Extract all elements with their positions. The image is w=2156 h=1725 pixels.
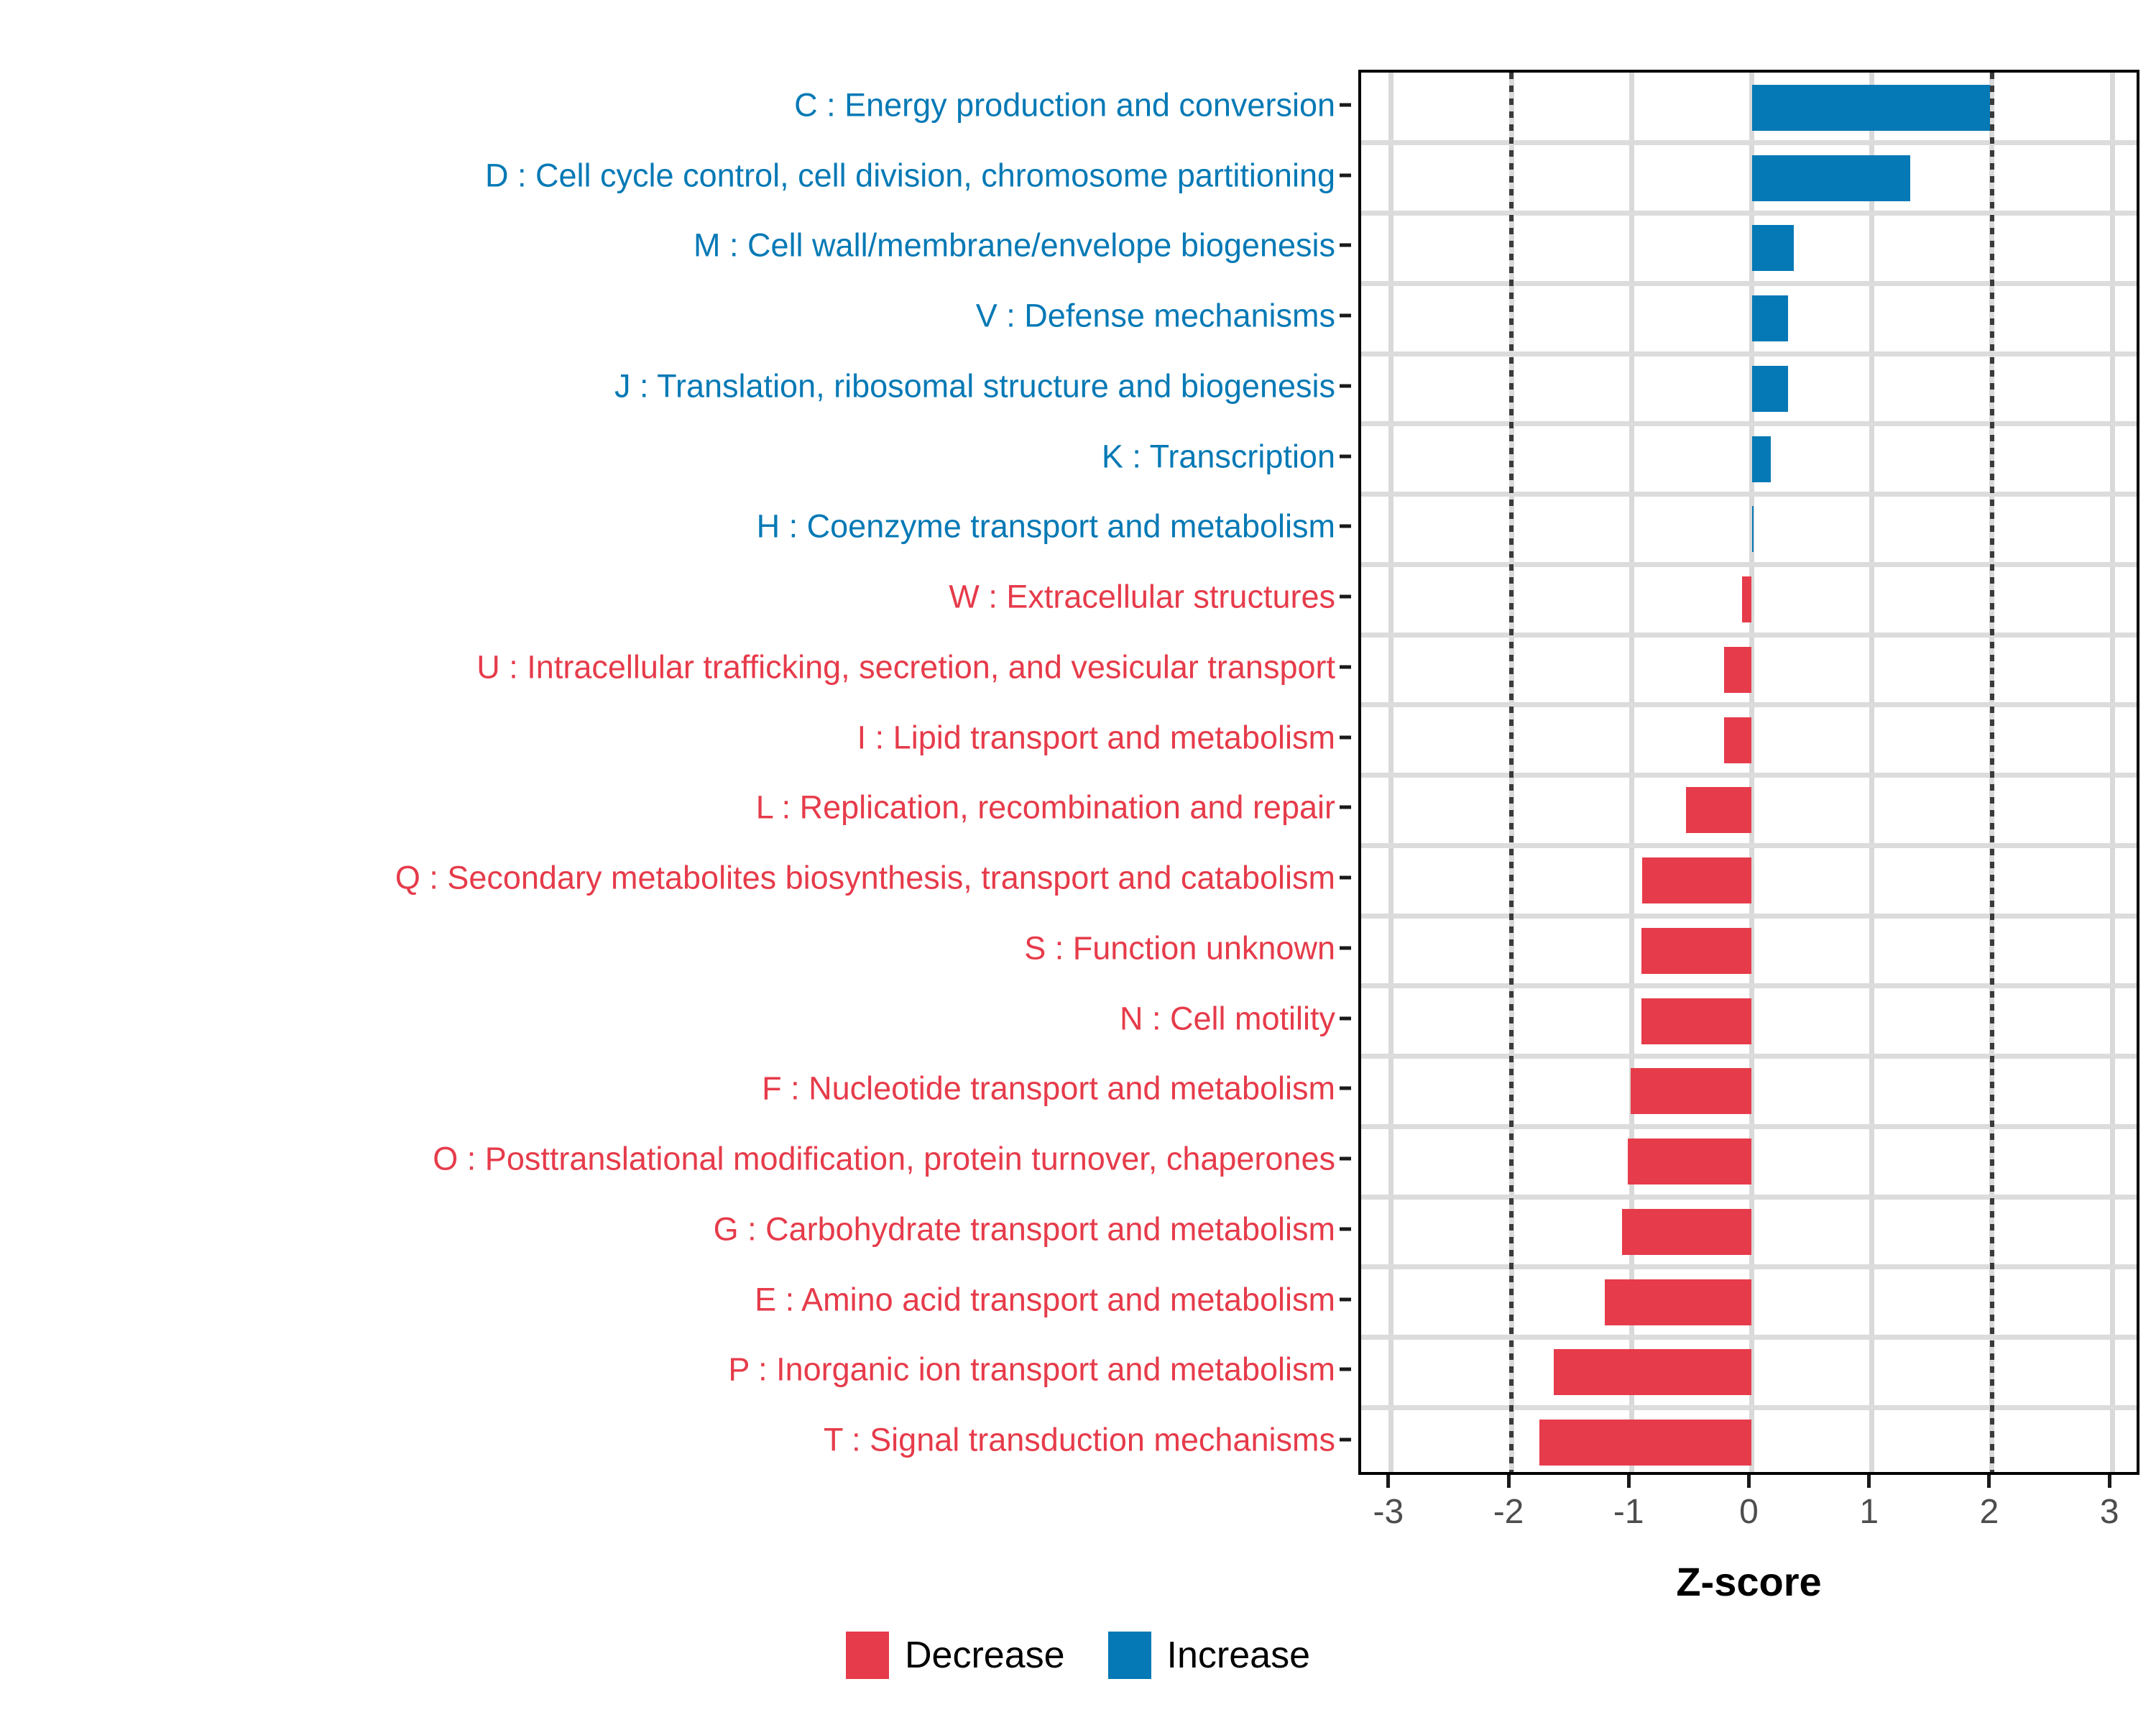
x-tick-label: 1 — [1859, 1492, 1879, 1532]
gridline-horizontal — [1361, 914, 2137, 919]
bar — [1752, 225, 1795, 271]
bar — [1631, 1068, 1752, 1114]
x-tick-mark — [1386, 1475, 1390, 1488]
gridline-horizontal — [1361, 281, 2137, 286]
gridline-horizontal — [1361, 773, 2137, 778]
bar — [1752, 155, 1911, 201]
category-label: O : Posttranslational modification, prot… — [433, 1142, 1335, 1176]
gridline-horizontal — [1361, 983, 2137, 988]
gridline-horizontal — [1361, 1264, 2137, 1269]
gridline-horizontal — [1361, 702, 2137, 707]
category-label: S : Function unknown — [1024, 931, 1335, 965]
x-tick-mark — [2108, 1475, 2111, 1488]
bar — [1724, 647, 1751, 693]
x-tick-label: -1 — [1613, 1492, 1644, 1532]
x-axis: -3-2-10123 — [1358, 1475, 2139, 1561]
threshold-line — [1509, 73, 1514, 1472]
y-tick-mark — [1340, 1368, 1351, 1371]
y-tick-mark — [1340, 1157, 1351, 1161]
legend-swatch — [846, 1632, 889, 1679]
y-tick-mark — [1340, 244, 1351, 247]
x-tick-label: -3 — [1373, 1492, 1404, 1532]
bar — [1752, 506, 1754, 552]
bar — [1641, 998, 1752, 1044]
category-label: V : Defense mechanisms — [976, 299, 1335, 333]
gridline-horizontal — [1361, 1335, 2137, 1340]
legend: DecreaseIncrease — [0, 1632, 2156, 1679]
y-tick-mark — [1340, 1016, 1351, 1020]
x-tick-label: 0 — [1739, 1492, 1759, 1532]
y-tick-mark — [1340, 454, 1351, 458]
bar — [1752, 85, 1990, 131]
y-tick-mark — [1340, 1438, 1351, 1442]
plot-panel — [1358, 70, 2139, 1475]
category-label: G : Carbohydrate transport and metabolis… — [714, 1212, 1335, 1246]
bar — [1752, 366, 1788, 412]
category-label: N : Cell motility — [1120, 1001, 1335, 1035]
category-label: U : Intracellular trafficking, secretion… — [476, 650, 1335, 684]
gridline-horizontal — [1361, 562, 2137, 567]
category-label: D : Cell cycle control, cell division, c… — [485, 158, 1335, 192]
y-tick-mark — [1340, 665, 1351, 668]
bar — [1686, 787, 1752, 833]
gridline-horizontal — [1361, 211, 2137, 216]
legend-item[interactable]: Decrease — [846, 1632, 1065, 1679]
category-label: C : Energy production and conversion — [794, 88, 1335, 121]
bar — [1641, 928, 1752, 974]
x-tick-label: -2 — [1493, 1492, 1524, 1532]
y-tick-mark — [1340, 384, 1351, 387]
gridline-horizontal — [1361, 1054, 2137, 1059]
x-tick-mark — [1507, 1475, 1511, 1488]
legend-label: Decrease — [905, 1634, 1065, 1677]
y-tick-mark — [1340, 806, 1351, 809]
category-label: Q : Secondary metabolites biosynthesis, … — [395, 861, 1335, 895]
y-tick-mark — [1340, 103, 1351, 106]
y-tick-mark — [1340, 595, 1351, 599]
bar — [1539, 1420, 1752, 1466]
bar — [1724, 717, 1751, 763]
gridline-horizontal — [1361, 351, 2137, 356]
category-label: F : Nucleotide transport and metabolism — [762, 1072, 1335, 1105]
cog-zscore-barchart: C : Energy production and conversionD : … — [0, 0, 2156, 1725]
bar — [1628, 1138, 1751, 1184]
category-label: E : Amino acid transport and metabolism — [755, 1282, 1335, 1316]
legend-swatch — [1108, 1632, 1151, 1679]
x-tick-mark — [1747, 1475, 1751, 1488]
y-tick-mark — [1340, 173, 1351, 177]
gridline-horizontal — [1361, 1195, 2137, 1200]
x-tick-mark — [1627, 1475, 1631, 1488]
bar — [1642, 857, 1751, 903]
gridline-horizontal — [1361, 1124, 2137, 1129]
category-label: L : Replication, recombination and repai… — [756, 791, 1335, 824]
category-label: M : Cell wall/membrane/envelope biogenes… — [694, 229, 1335, 262]
y-tick-mark — [1340, 876, 1351, 880]
category-label: J : Translation, ribosomal structure and… — [614, 369, 1335, 402]
bar — [1622, 1209, 1752, 1255]
legend-label: Increase — [1167, 1634, 1310, 1677]
x-axis-title: Z-score — [1358, 1558, 2139, 1605]
category-axis: C : Energy production and conversionD : … — [0, 70, 1351, 1475]
category-label: I : Lipid transport and metabolism — [857, 720, 1335, 754]
legend-item[interactable]: Increase — [1108, 1632, 1310, 1679]
y-tick-mark — [1340, 1297, 1351, 1301]
gridline-horizontal — [1361, 843, 2137, 848]
x-tick-label: 2 — [1980, 1492, 1999, 1532]
gridline-horizontal — [1361, 492, 2137, 497]
y-tick-mark — [1340, 1087, 1351, 1090]
bar — [1554, 1349, 1752, 1395]
bar — [1752, 436, 1772, 482]
y-tick-mark — [1340, 1227, 1351, 1230]
x-tick-mark — [1867, 1475, 1871, 1488]
category-label: K : Transcription — [1102, 439, 1335, 473]
category-label: W : Extracellular structures — [949, 580, 1335, 614]
bar — [1742, 576, 1751, 622]
category-label: H : Coenzyme transport and metabolism — [757, 510, 1335, 543]
gridline-horizontal — [1361, 140, 2137, 145]
gridline-horizontal — [1361, 1405, 2137, 1410]
x-tick-mark — [1987, 1475, 1991, 1488]
gridline-horizontal — [1361, 632, 2137, 638]
bar — [1605, 1279, 1751, 1325]
y-tick-mark — [1340, 314, 1351, 318]
category-label: P : Inorganic ion transport and metaboli… — [728, 1353, 1335, 1386]
threshold-line — [1990, 73, 1994, 1472]
gridline-horizontal — [1361, 421, 2137, 426]
bar — [1752, 295, 1788, 341]
y-tick-mark — [1340, 735, 1351, 739]
y-tick-mark — [1340, 946, 1351, 949]
x-tick-label: 3 — [2100, 1492, 2119, 1532]
category-label: T : Signal transduction mechanisms — [824, 1423, 1335, 1457]
y-tick-mark — [1340, 525, 1351, 528]
